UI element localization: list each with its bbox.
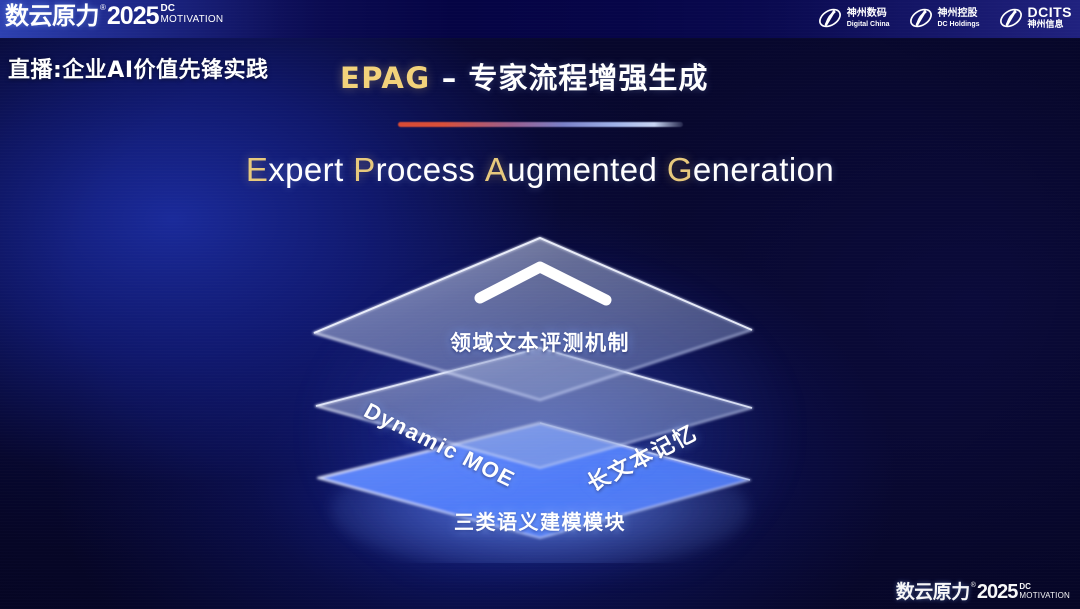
- footer-logo-dc: DC: [1019, 583, 1070, 591]
- title-separator: –: [431, 61, 469, 95]
- layer-top-surface: [314, 238, 752, 400]
- brand-logo-motivation: MOTIVATION: [161, 14, 224, 25]
- title-divider: [398, 122, 683, 127]
- title-acronym: EPAG: [340, 61, 431, 95]
- partner-name-cn: 神州数码: [847, 8, 890, 20]
- partner-logo-group: 神州数码 Digital China 神州控股 DC Holdings: [817, 5, 1072, 31]
- partner-logo-dc-holdings: 神州控股 DC Holdings: [908, 5, 980, 31]
- partner-logo-dcits: DCITS 神州信息: [998, 5, 1073, 31]
- subtitle-cap-a: A: [485, 151, 507, 188]
- footer-logo-year: 2025: [977, 581, 1018, 603]
- subtitle-rest-process: rocess: [376, 151, 476, 188]
- live-stream-label: 直播:企业AI价值先锋实践: [8, 52, 269, 84]
- isometric-layer-stack: [290, 228, 790, 563]
- layer-top[interactable]: [314, 238, 752, 400]
- title-chinese: 专家流程增强生成: [468, 61, 708, 95]
- footer-logo-registered: ®: [971, 581, 976, 590]
- footer-watermark-logo: 数云原力 ® 2025 DC MOTIVATION: [896, 581, 1070, 603]
- subtitle-english: Expert Process Augmented Generation: [0, 151, 1080, 189]
- brand-logo: 数云原力 ® 2025 DC MOTIVATION: [5, 2, 223, 30]
- brand-logo-dcm: DC MOTIVATION: [161, 2, 224, 25]
- subtitle-cap-e: E: [246, 151, 268, 188]
- slide-root: 数云原力 ® 2025 DC MOTIVATION 神州数码 Digital C…: [0, 0, 1080, 609]
- subtitle-cap-g: G: [667, 151, 693, 188]
- subtitle-rest-expert: xpert: [268, 151, 343, 188]
- partner-text: 神州控股 DC Holdings: [938, 8, 980, 29]
- partner-text: 神州数码 Digital China: [847, 8, 890, 29]
- partner-name-cn: 神州信息: [1028, 20, 1073, 31]
- page-title: EPAG – 专家流程增强生成: [340, 55, 708, 97]
- partner-logo-digital-china: 神州数码 Digital China: [817, 5, 890, 31]
- footer-logo-dcm: DC MOTIVATION: [1019, 581, 1070, 600]
- swirl-logo-icon: [998, 5, 1024, 31]
- brand-logo-registered: ®: [100, 2, 106, 14]
- brand-logo-dc: DC: [161, 4, 224, 14]
- partner-text: DCITS 神州信息: [1028, 5, 1073, 31]
- partner-name-en: Digital China: [847, 20, 890, 29]
- brand-logo-year: 2025: [107, 2, 159, 30]
- swirl-logo-icon: [817, 5, 843, 31]
- footer-logo-motivation: MOTIVATION: [1019, 591, 1070, 600]
- subtitle-rest-augmented: ugmented: [507, 151, 657, 188]
- footer-logo-cn: 数云原力: [896, 581, 970, 603]
- partner-name-en: DC Holdings: [938, 20, 980, 29]
- subtitle-rest-generation: eneration: [693, 151, 834, 188]
- subtitle-cap-p: P: [353, 151, 375, 188]
- partner-name-en: DCITS: [1028, 5, 1073, 20]
- swirl-logo-icon: [908, 5, 934, 31]
- partner-name-cn: 神州控股: [938, 8, 980, 20]
- brand-logo-cn: 数云原力: [5, 2, 99, 30]
